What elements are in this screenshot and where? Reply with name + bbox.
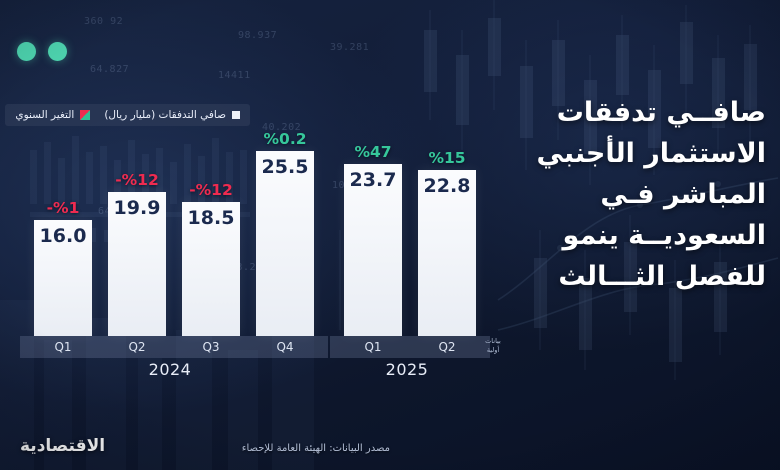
plot-area: 16.0%1-19.9%12-18.5%12-25.5%0.223.7%4722… bbox=[14, 140, 500, 336]
legend-item-annual-change: التغير السنوي bbox=[15, 109, 90, 121]
axis-tick-q1-2024: Q1 bbox=[34, 336, 92, 358]
headline-line-3: المباشر فـي bbox=[498, 174, 766, 215]
bar-q1-2024: 16.0 bbox=[34, 220, 92, 336]
axis-tick-q3-2024: Q3 bbox=[182, 336, 240, 358]
bar-q2-2024: 19.9 bbox=[108, 192, 166, 336]
x-axis: Q1Q2Q3Q4Q1Q2بيانات أولية bbox=[14, 336, 500, 358]
annual-change-label: %12- bbox=[108, 171, 166, 189]
headline: صافــي تدفقات الاستثمار الأجنبي المباشر … bbox=[498, 92, 766, 297]
headline-line-5: للفصل الثـــالث bbox=[498, 256, 766, 297]
bg-number: 14411 bbox=[218, 70, 251, 81]
bar-value-label: 18.5 bbox=[182, 207, 240, 229]
bg-number: 39.281 bbox=[330, 42, 369, 53]
chart-legend: صافي التدفقات (مليار ريال) التغير السنوي bbox=[5, 104, 250, 126]
annual-change-label: %15 bbox=[418, 149, 476, 167]
bar-q4-2024: 25.5 bbox=[256, 151, 314, 336]
white-square-icon bbox=[232, 111, 240, 119]
year-label-2024: 2024 bbox=[34, 360, 306, 379]
annual-change-label: %47 bbox=[344, 143, 402, 161]
bar-q1-2025: 23.7 bbox=[344, 164, 402, 336]
bar-value-label: 19.9 bbox=[108, 197, 166, 219]
annual-change-label: %12- bbox=[182, 181, 240, 199]
axis-tick-q1-2025: Q1 bbox=[344, 336, 402, 358]
infographic-canvas: 92 360 98.937 39.281 14411 64.827 64.963… bbox=[0, 0, 780, 470]
red-green-split-square-icon bbox=[80, 110, 90, 120]
bar-value-label: 23.7 bbox=[344, 169, 402, 191]
legend-label: التغير السنوي bbox=[15, 109, 74, 121]
legend-item-net-inflows: صافي التدفقات (مليار ريال) bbox=[104, 109, 240, 121]
axis-tick-q4-2024: Q4 bbox=[256, 336, 314, 358]
bar-value-label: 16.0 bbox=[34, 225, 92, 247]
bg-number: 64.827 bbox=[90, 64, 129, 75]
bg-number: 98.937 bbox=[238, 30, 277, 41]
axis-tick-q2-2024: Q2 bbox=[108, 336, 166, 358]
bar-q3-2024: 18.5 bbox=[182, 202, 240, 336]
bar-value-label: 25.5 bbox=[256, 156, 314, 178]
bar-chart: صافي التدفقات (مليار ريال) التغير السنوي… bbox=[14, 104, 500, 382]
headline-line-2: الاستثمار الأجنبي bbox=[498, 133, 766, 174]
bar-value-label: 22.8 bbox=[418, 175, 476, 197]
dot-icon bbox=[17, 42, 36, 61]
axis-tick-q2-2025: Q2 bbox=[418, 336, 476, 358]
preliminary-data-note: بيانات أولية bbox=[478, 337, 508, 355]
headline-line-1: صافــي تدفقات bbox=[498, 92, 766, 133]
legend-label: صافي التدفقات (مليار ريال) bbox=[104, 109, 226, 121]
bar-q2-2025: 22.8 bbox=[418, 170, 476, 336]
headline-line-4: السعوديــة ينمو bbox=[498, 215, 766, 256]
annual-change-label: %1- bbox=[34, 199, 92, 217]
year-label-2025: 2025 bbox=[332, 360, 482, 379]
data-source-note: مصدر البيانات: الهيئة العامة للإحصاء bbox=[242, 443, 390, 454]
dot-icon bbox=[48, 42, 67, 61]
decorative-dots bbox=[17, 42, 67, 61]
annual-change-label: %0.2 bbox=[256, 130, 314, 148]
bg-number: 92 360 bbox=[84, 16, 123, 27]
publisher-logo: الاقتصادية bbox=[20, 436, 105, 456]
